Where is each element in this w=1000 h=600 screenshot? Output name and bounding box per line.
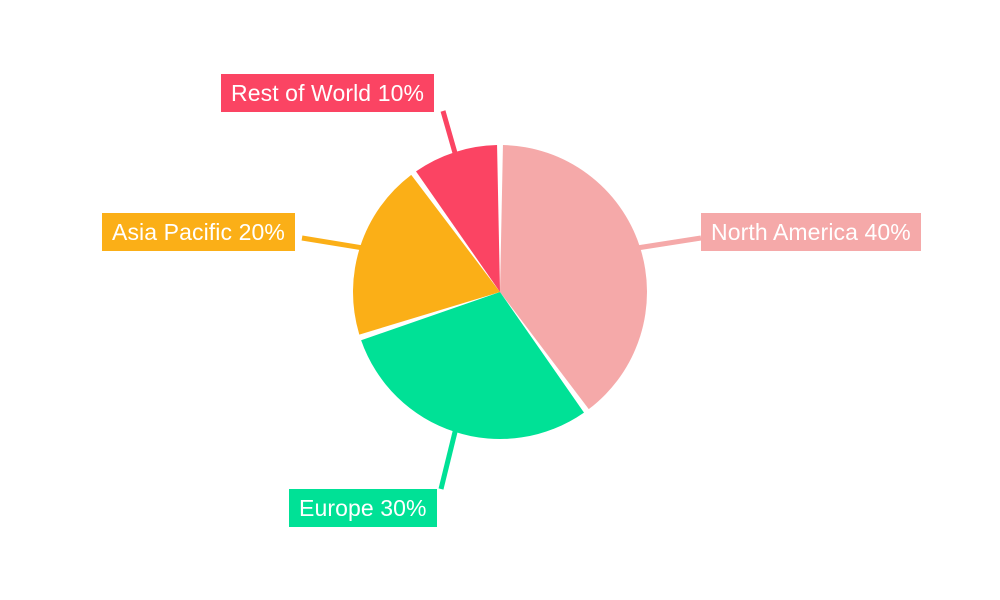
pie-chart: Rest of World 10% Asia Pacific 20% North…: [0, 0, 1000, 600]
pie-label-rest-of-world[interactable]: Rest of World 10%: [221, 74, 434, 112]
leader-line-north-america: [634, 238, 701, 248]
pie-chart-canvas: [0, 0, 1000, 600]
leader-line-rest-of-world: [443, 111, 456, 158]
pie-label-asia-pacific[interactable]: Asia Pacific 20%: [102, 213, 295, 251]
leader-line-europe: [441, 426, 456, 489]
pie-slices: [353, 145, 647, 439]
leader-line-asia-pacific: [302, 238, 366, 248]
pie-label-europe[interactable]: Europe 30%: [289, 489, 437, 527]
pie-label-north-america[interactable]: North America 40%: [701, 213, 921, 251]
